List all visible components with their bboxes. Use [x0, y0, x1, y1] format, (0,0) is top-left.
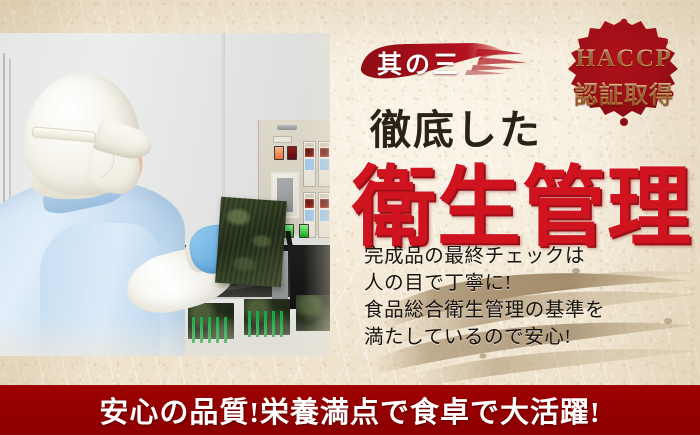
haccp-certification-seal: HACCP 認証取得 — [560, 18, 688, 136]
body-line: 満たしているので安心! — [364, 324, 605, 351]
panel-label-plate — [273, 136, 292, 143]
inspected-nori-sheet — [215, 197, 287, 287]
footer-banner-text: 安心の品質!栄養満点で食卓で大活躍! — [99, 389, 600, 431]
series-number-badge: 其の三 — [355, 38, 530, 86]
nori-sheet-on-belt — [296, 295, 330, 331]
body-line: 食品総合衛生管理の基準を — [364, 297, 605, 324]
body-copy: 完成品の最終チェックは 人の目で丁寧に! 食品総合衛生管理の基準を 満たしている… — [364, 243, 605, 351]
indicator-light-darkred — [287, 146, 297, 160]
advertisement-banner: 其の三 HACCP 認証取得 徹底した 衛生管理 — [0, 0, 700, 435]
seal-red-blob — [560, 18, 688, 136]
factory-inspection-photo — [0, 33, 330, 356]
panel-handle — [277, 125, 297, 130]
controller-module-row-top — [303, 141, 330, 187]
body-line: 完成品の最終チェックは — [364, 243, 605, 270]
green-separator-strip — [192, 317, 230, 343]
indicator-light-orange — [274, 146, 284, 160]
badge-label: 其の三 — [377, 45, 461, 81]
green-separator-strip — [248, 311, 286, 337]
footer-banner: 安心の品質!栄養満点で食卓で大活躍! — [0, 385, 700, 435]
body-line: 人の目で丁寧に! — [364, 270, 605, 297]
